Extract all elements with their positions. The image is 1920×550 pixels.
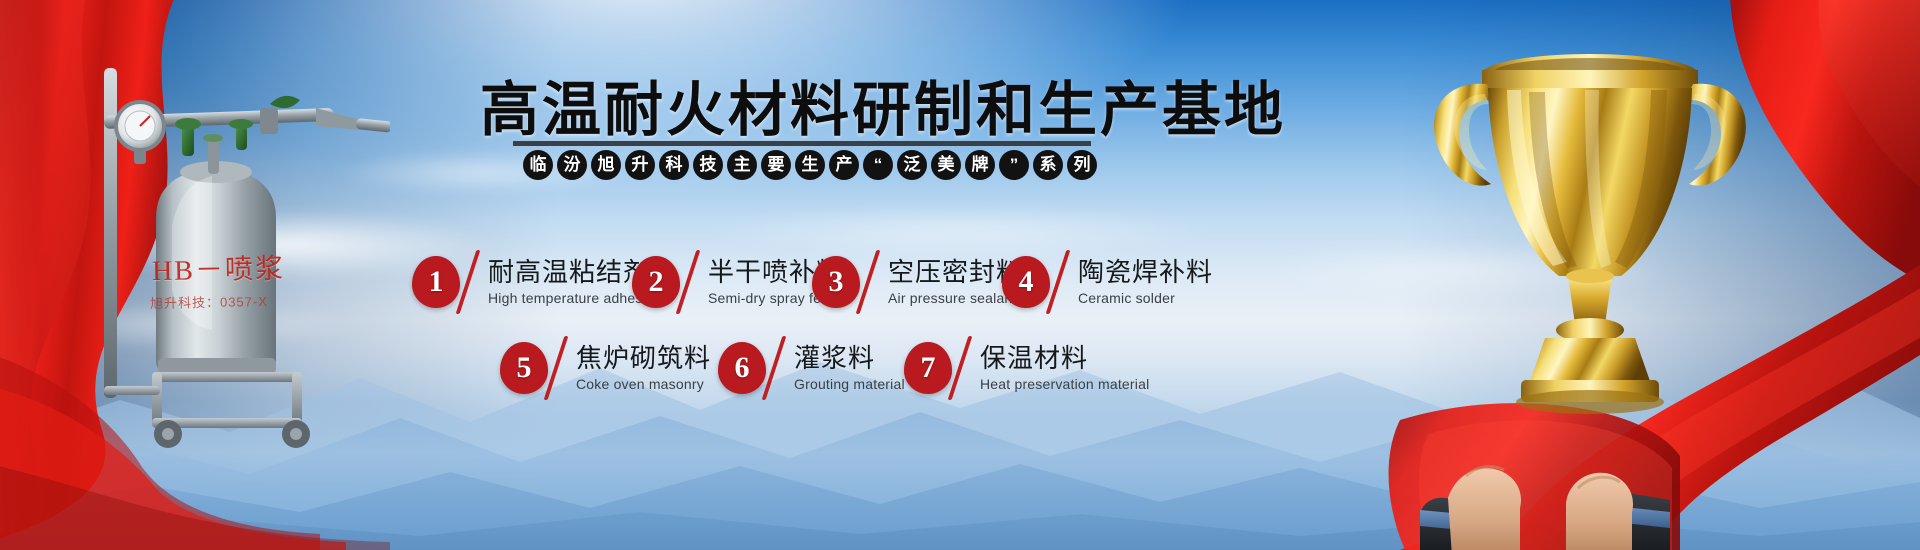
list-item[interactable]: 3 空压密封料 Air pressure sealant [812, 250, 1023, 314]
slash-icon [458, 250, 480, 314]
product-name-en: Grouting material [794, 376, 905, 392]
number-badge-icon: 2 [632, 256, 680, 308]
slash-icon [764, 336, 786, 400]
list-item[interactable]: 6 灌浆料 Grouting material [718, 336, 905, 400]
badge-number: 5 [500, 342, 548, 394]
product-name-en: Ceramic solder [1078, 290, 1213, 306]
number-badge-icon: 7 [904, 342, 952, 394]
number-badge-icon: 3 [812, 256, 860, 308]
list-item[interactable]: 5 焦炉砌筑料 Coke oven masonry [500, 336, 711, 400]
number-badge-icon: 5 [500, 342, 548, 394]
product-name-en: Heat preservation material [980, 376, 1149, 392]
list-item[interactable]: 7 保温材料 Heat preservation material [904, 336, 1149, 400]
list-item[interactable]: 4 陶瓷焊补料 Ceramic solder [1002, 250, 1213, 314]
promo-banner: HB－喷浆 旭升科技：0357-X [0, 0, 1920, 550]
number-badge-icon: 6 [718, 342, 766, 394]
product-name-cn: 陶瓷焊补料 [1078, 258, 1213, 288]
product-name-en: Coke oven masonry [576, 376, 711, 392]
slash-icon [546, 336, 568, 400]
slash-icon [1048, 250, 1070, 314]
product-name-cn: 灌浆料 [794, 344, 905, 374]
badge-number: 3 [812, 256, 860, 308]
badge-number: 6 [718, 342, 766, 394]
badge-number: 7 [904, 342, 952, 394]
product-list: 1 耐高温粘结剂 High temperature adhesive 2 半干喷… [0, 0, 1920, 550]
slash-icon [858, 250, 880, 314]
slash-icon [678, 250, 700, 314]
slash-icon [950, 336, 972, 400]
list-item[interactable]: 1 耐高温粘结剂 High temperature adhesive [412, 250, 661, 314]
product-name-cn: 保温材料 [980, 344, 1149, 374]
badge-number: 1 [412, 256, 460, 308]
number-badge-icon: 4 [1002, 256, 1050, 308]
badge-number: 4 [1002, 256, 1050, 308]
badge-number: 2 [632, 256, 680, 308]
number-badge-icon: 1 [412, 256, 460, 308]
product-name-cn: 焦炉砌筑料 [576, 344, 711, 374]
